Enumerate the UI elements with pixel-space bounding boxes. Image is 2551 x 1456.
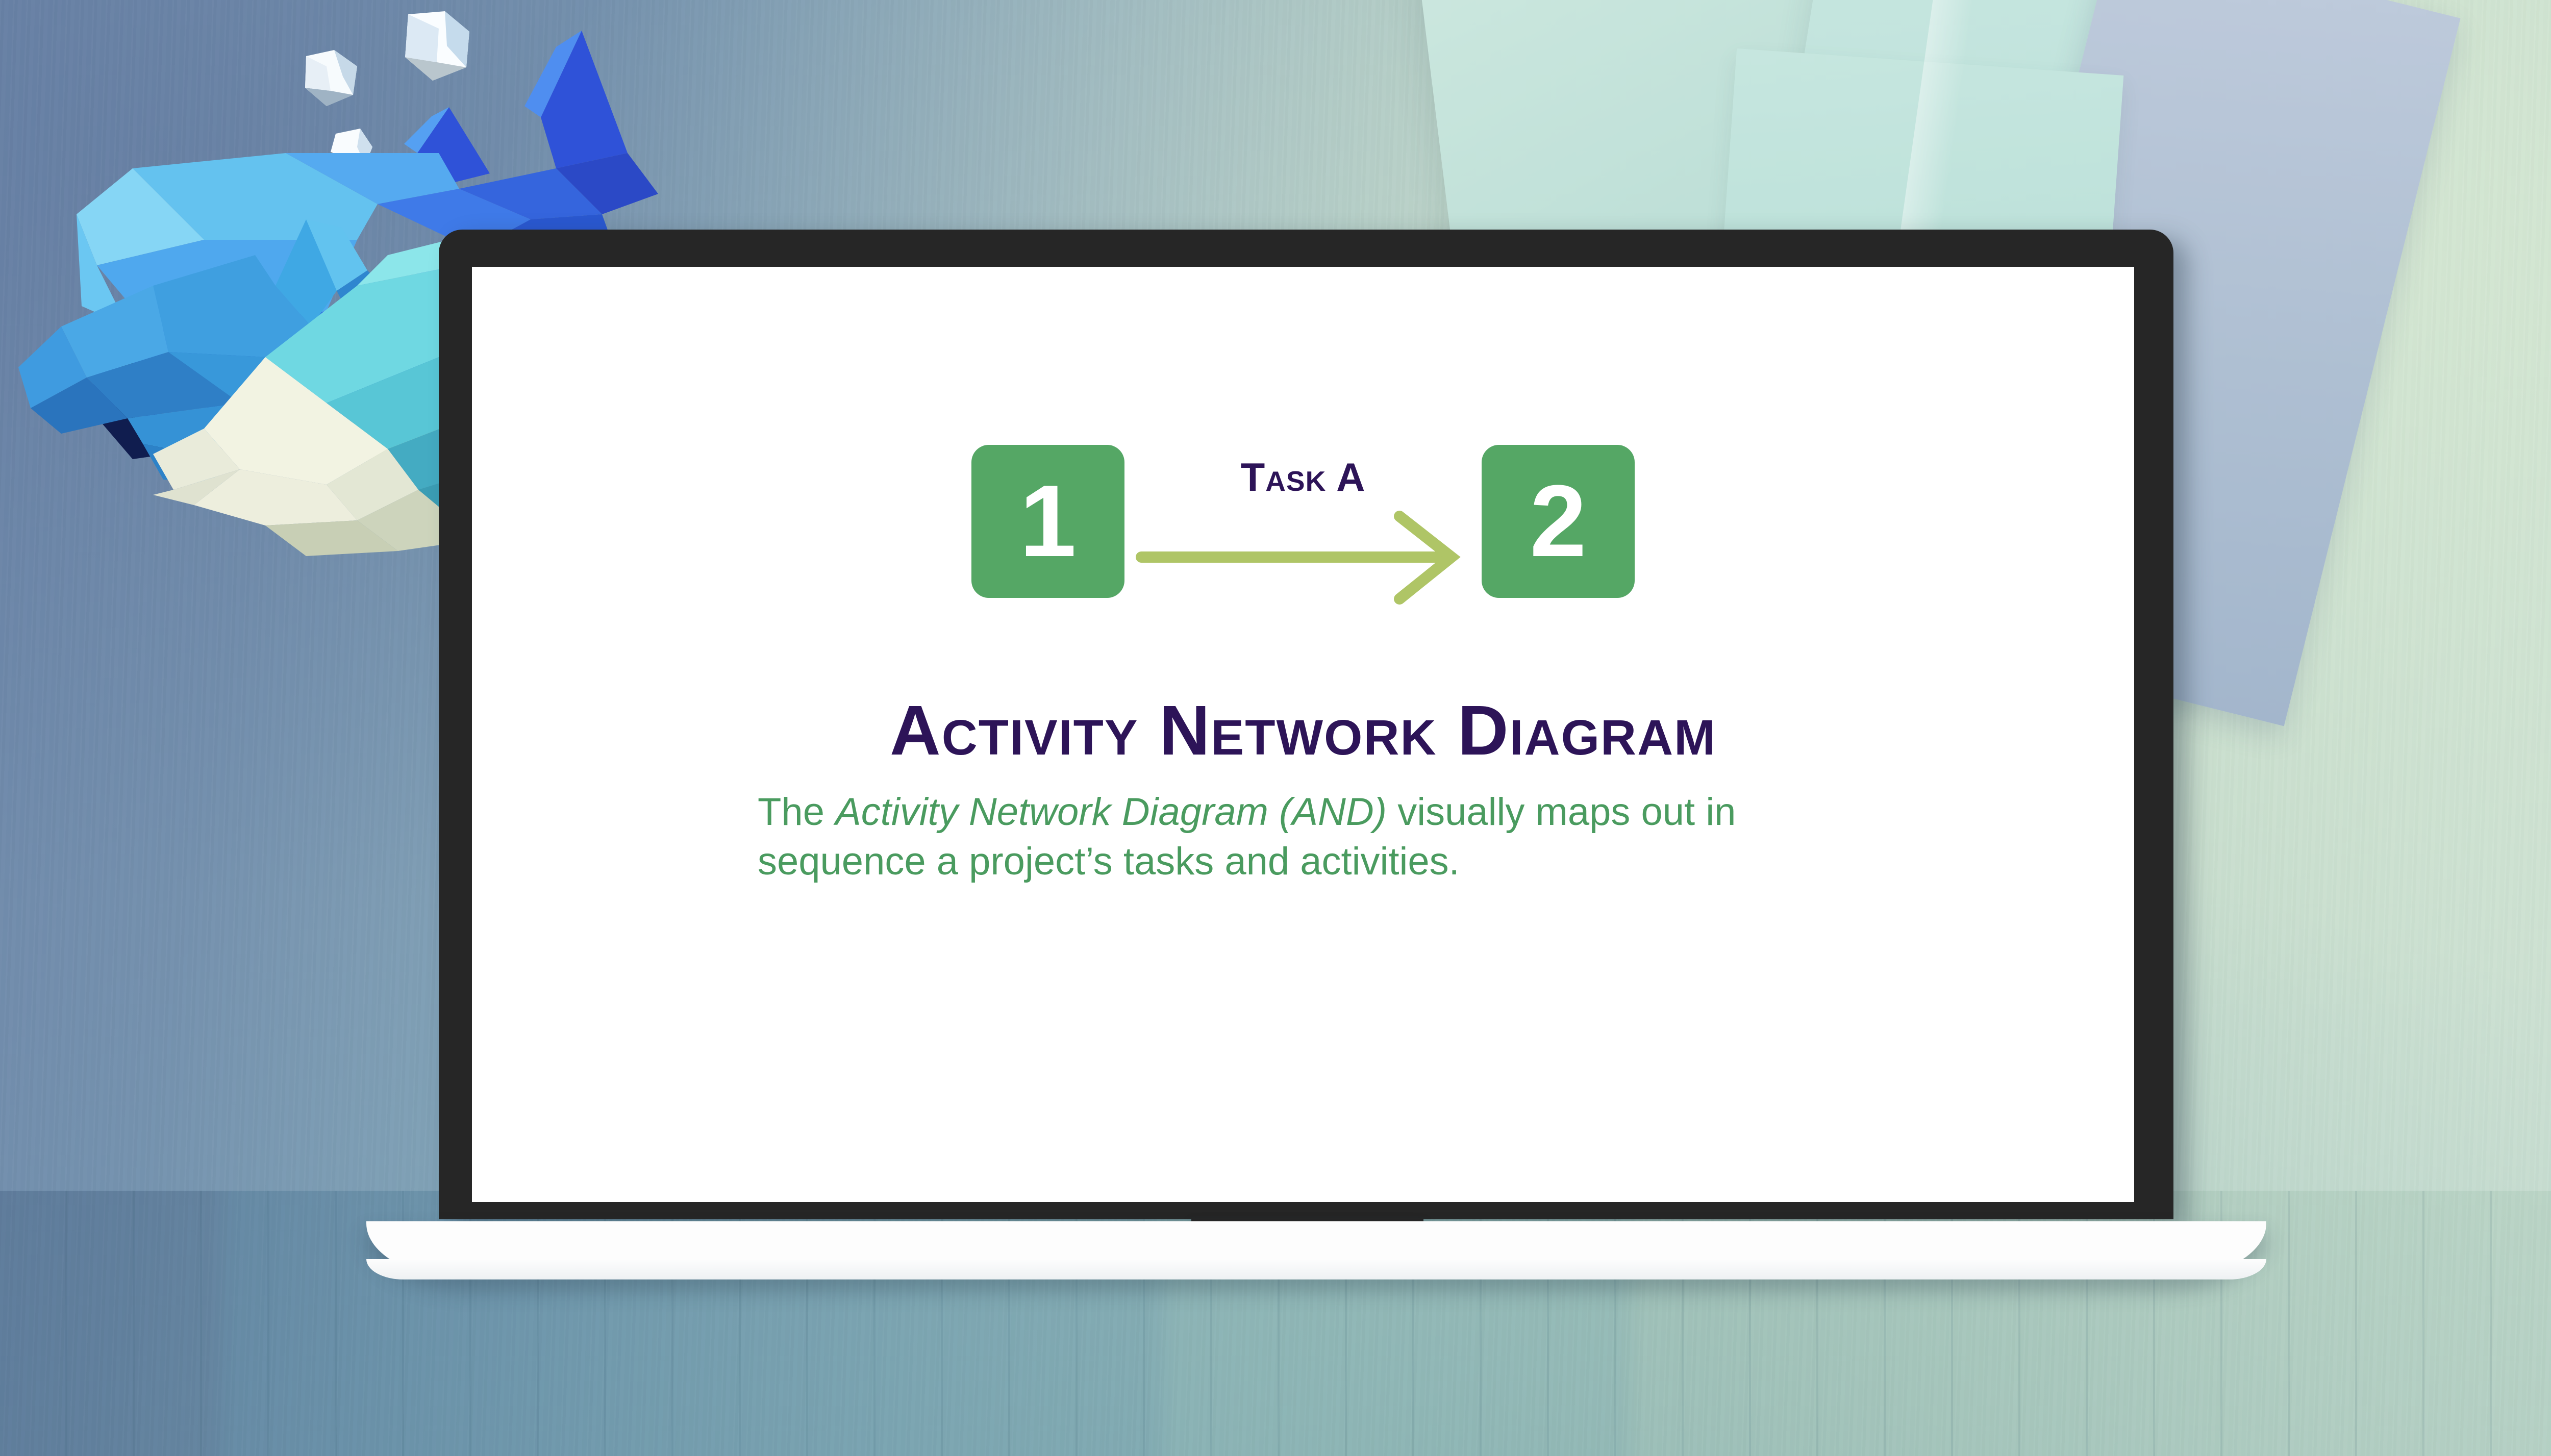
node-start[interactable]: 1 <box>971 445 1124 598</box>
slide-title: Activity Network Diagram <box>472 695 2134 766</box>
activity-network-diagram: 1 Task A 2 <box>472 437 2134 606</box>
slide-body-text: The Activity Network Diagram (AND) visua… <box>758 787 1849 887</box>
laptop-base-shading <box>366 1259 2266 1279</box>
arrow-right-icon <box>1130 538 1475 614</box>
bubble-medium <box>305 50 357 106</box>
bubble-large <box>405 11 469 81</box>
body-prefix: The <box>758 790 835 834</box>
edge-label-task-a: Task A <box>1241 454 1366 500</box>
laptop-base <box>366 1221 2266 1279</box>
presentation-slide: 1 Task A 2 Activity Network Diagram The … <box>472 267 2134 1202</box>
node-end[interactable]: 2 <box>1482 445 1635 598</box>
edge-task-a: Task A <box>1124 445 1482 598</box>
slide-screenshot: 1 Task A 2 Activity Network Diagram The … <box>0 0 2551 1456</box>
body-emphasis: Activity Network Diagram (AND) <box>835 790 1387 834</box>
